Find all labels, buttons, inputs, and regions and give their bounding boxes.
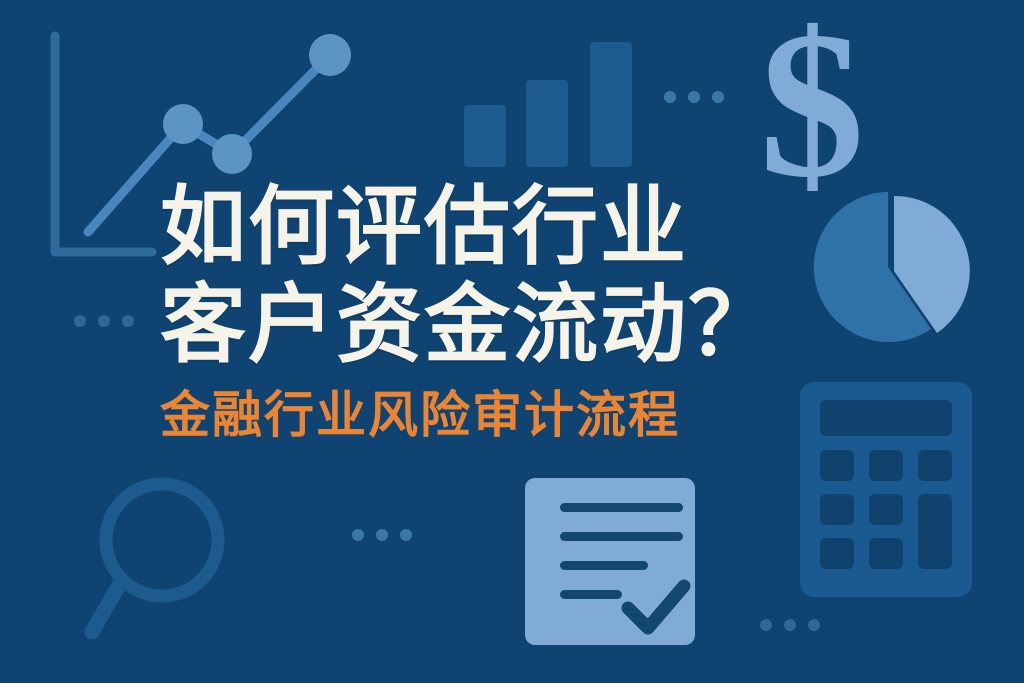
line-chart-point xyxy=(309,34,351,76)
dot xyxy=(808,619,820,631)
calculator-key xyxy=(820,538,854,569)
checklist-document-icon xyxy=(525,478,695,645)
document-line xyxy=(560,590,622,599)
line-chart-point xyxy=(163,104,203,144)
dot xyxy=(352,529,364,541)
title-line-2: 客户资金流动？ xyxy=(160,276,860,374)
document-line xyxy=(560,561,648,570)
calculator-key xyxy=(820,450,854,481)
subtitle: 金融行业风险审计流程 xyxy=(160,386,860,444)
bar-chart-icon xyxy=(464,42,632,167)
document-line xyxy=(560,503,683,512)
dot xyxy=(760,619,772,631)
calculator-key xyxy=(820,494,854,525)
title-line-1: 如何评估行业 xyxy=(160,178,860,276)
dot xyxy=(664,91,676,103)
headline-block: 如何评估行业 客户资金流动？ 金融行业风险审计流程 xyxy=(160,178,860,444)
dot xyxy=(74,315,86,327)
dots-bottom xyxy=(760,619,820,631)
calculator-key-tall xyxy=(918,494,952,569)
dot xyxy=(712,91,724,103)
dots-center xyxy=(352,529,412,541)
dot xyxy=(122,315,134,327)
line-chart-point xyxy=(212,134,252,174)
dot xyxy=(688,91,700,103)
dot xyxy=(98,315,110,327)
bar-chart-bar xyxy=(526,80,568,167)
poster-canvas: $ xyxy=(0,0,1024,683)
dot xyxy=(400,529,412,541)
bar-chart-bar xyxy=(464,105,506,167)
calculator-key xyxy=(869,538,903,569)
bar-chart-bar xyxy=(590,42,632,167)
dot xyxy=(784,619,796,631)
dots-bar-chart xyxy=(664,91,724,103)
calculator-key xyxy=(869,494,903,525)
magnifier-handle xyxy=(92,580,122,632)
dots-left xyxy=(74,315,134,327)
magnifier-icon xyxy=(92,484,218,632)
document-line xyxy=(560,532,683,541)
calculator-key xyxy=(869,450,903,481)
calculator-key xyxy=(918,450,952,481)
dot xyxy=(376,529,388,541)
